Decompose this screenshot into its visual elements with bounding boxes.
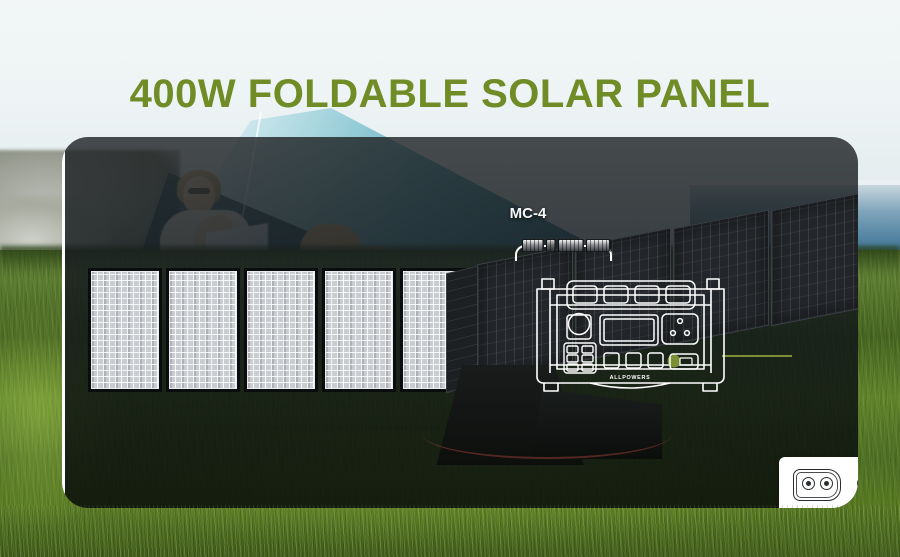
- folded-solar-panel-array: [88, 268, 474, 392]
- station-foot-right: [703, 383, 717, 391]
- lcd-screen-inner: [604, 319, 654, 341]
- socket-pin-hole: [820, 477, 833, 490]
- station-foot-left: [544, 383, 558, 391]
- solar-panel-segment: [88, 268, 162, 392]
- keypad-key: [582, 355, 593, 362]
- outlet-prong-top: [678, 319, 683, 324]
- mc4-connector: [522, 237, 612, 254]
- page-title: 400W FOLDABLE SOLAR PANEL: [0, 72, 900, 117]
- dc-input-port-highlight: [668, 354, 699, 369]
- portable-power-station: ALLPOWERS: [528, 265, 733, 398]
- keypad-key: [567, 355, 578, 362]
- keypad-key: [582, 346, 593, 353]
- outlet-prong-left: [671, 331, 676, 336]
- output-socket-closeup: [779, 457, 858, 508]
- solar-cell-grid: [169, 271, 237, 389]
- solar-panel-segment: [322, 268, 396, 392]
- socket-round-port: [857, 476, 858, 491]
- station-handle-left: [542, 279, 554, 289]
- mc4-ribbing: [522, 239, 612, 252]
- solar-cell-grid: [91, 271, 159, 389]
- outlet-prong-right: [685, 331, 690, 336]
- solar-cell-grid: [325, 271, 393, 389]
- foreground-grass-strip: [0, 505, 900, 557]
- tilted-panel-segment: [771, 192, 858, 327]
- cable-left-vertical: [62, 137, 65, 402]
- rotary-knob: [569, 314, 590, 335]
- solar-panel-segment: [244, 268, 318, 392]
- dark-overlay-card: MC-4 XT60: [62, 137, 858, 508]
- socket-pin-hole: [802, 477, 815, 490]
- mc4-label: MC-4: [468, 205, 588, 222]
- station-brand-label: ALLPOWERS: [610, 375, 651, 381]
- keypad-key: [567, 346, 578, 353]
- solar-cell-grid: [247, 271, 315, 389]
- dc-port-inner: [680, 358, 692, 365]
- solar-panel-segment: [166, 268, 240, 392]
- station-handle-right: [707, 279, 719, 289]
